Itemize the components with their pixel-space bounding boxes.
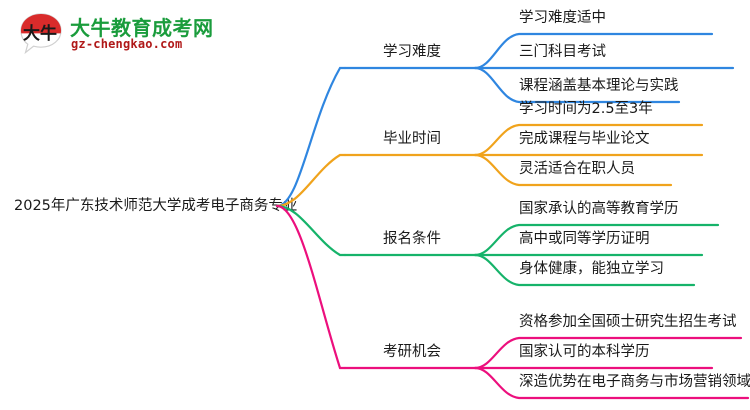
leaf-label-1-1[interactable]: 学习难度适中 xyxy=(519,6,606,27)
leaf-label-1-2[interactable]: 三门科目考试 xyxy=(519,40,606,61)
leaf-label-2-2[interactable]: 完成课程与毕业论文 xyxy=(519,127,650,148)
leaf-label-4-2[interactable]: 国家认可的本科学历 xyxy=(519,340,650,361)
leaf-label-3-2[interactable]: 高中或同等学历证明 xyxy=(519,227,650,248)
branch-label-4[interactable]: 考研机会 xyxy=(383,340,441,361)
leaf-label-2-3[interactable]: 灵活适合在职人员 xyxy=(519,157,635,178)
branch-connector-1 xyxy=(277,34,733,206)
leaf-label-3-1[interactable]: 国家承认的高等教育学历 xyxy=(519,197,679,218)
branch-label-3[interactable]: 报名条件 xyxy=(383,227,441,248)
branch-label-2[interactable]: 毕业时间 xyxy=(383,127,441,148)
leaf-label-2-1[interactable]: 学习时间为2.5至3年 xyxy=(519,97,653,118)
leaf-label-1-3[interactable]: 课程涵盖基本理论与实践 xyxy=(519,74,679,95)
leaf-label-4-3[interactable]: 深造优势在电子商务与市场营销领域 xyxy=(519,370,750,391)
branch-label-1[interactable]: 学习难度 xyxy=(383,40,441,61)
leaf-label-3-3[interactable]: 身体健康，能独立学习 xyxy=(519,257,664,278)
leaf-label-4-1[interactable]: 资格参加全国硕士研究生招生考试 xyxy=(519,310,737,331)
mindmap-canvas: 大牛 大牛教育成考网 gz-chengkao.com 2025年广东技术师范大学… xyxy=(0,0,750,410)
